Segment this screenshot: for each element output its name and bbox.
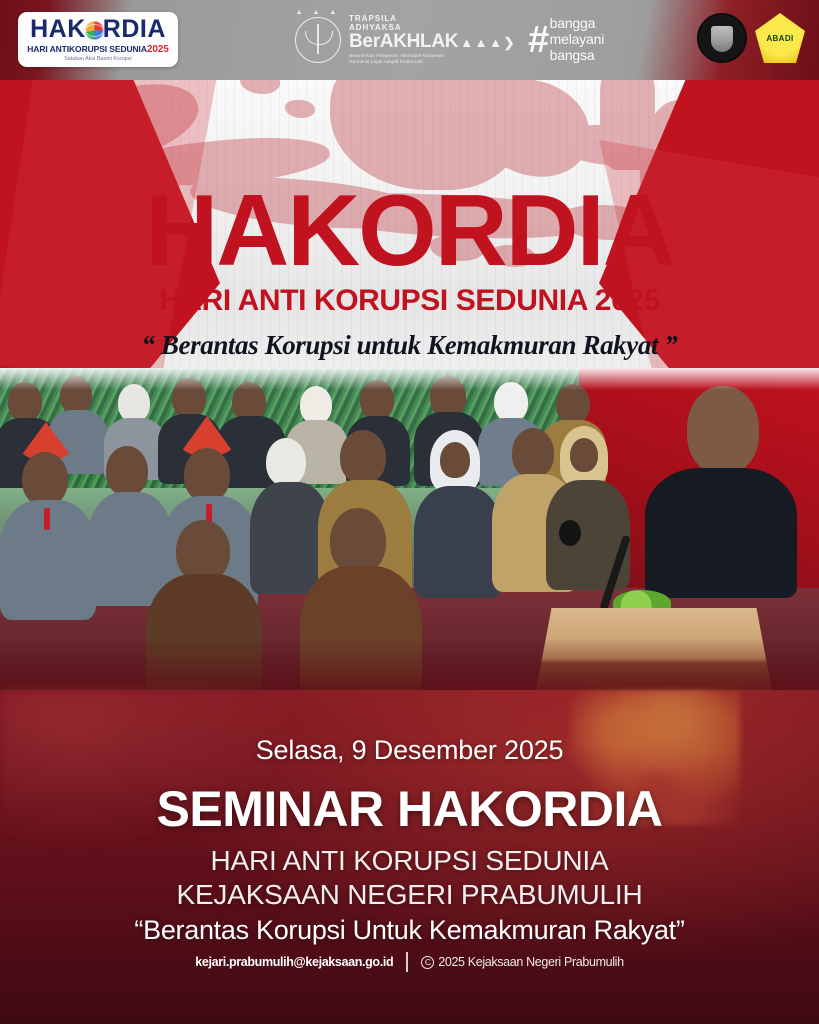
globe-icon bbox=[85, 21, 104, 40]
event-line-4: “Berantas Korupsi Untuk Kemakmuran Rakya… bbox=[0, 915, 819, 946]
event-line-3: KEJAKSAAN NEGERI PRABUMULIH bbox=[0, 878, 819, 912]
footer-bar: kejari.prabumulih@kejaksaan.go.id C 2025… bbox=[0, 952, 819, 972]
event-details-section: Selasa, 9 Desember 2025 SEMINAR HAKORDIA… bbox=[0, 690, 819, 1024]
bangga-line-3: bangsa bbox=[550, 48, 604, 64]
copyright-text: 2025 Kejaksaan Negeri Prabumulih bbox=[438, 955, 623, 969]
hakordia-badge-wordmark: HAKRDIA bbox=[30, 17, 166, 42]
seminar-photograph bbox=[0, 368, 819, 728]
microphone-head-icon bbox=[559, 520, 581, 546]
arrow-icons: ▲ ▲ ▲ ❯ bbox=[460, 36, 513, 49]
footer-divider bbox=[406, 952, 408, 972]
bangga-melayani-bangsa-lockup: # bangga melayani bangsa bbox=[528, 16, 605, 63]
photo-top-fade bbox=[0, 368, 819, 390]
poster-canvas: HAKORDIA HARI ANTI KORUPSI SEDUNIA 2025 … bbox=[0, 0, 819, 1024]
hero-title: HAKORDIA bbox=[0, 184, 819, 280]
abadi-label: ABADI bbox=[755, 34, 805, 43]
trapsila-adhyaksa-text: TRAPSILAADHYAKSA bbox=[349, 15, 514, 32]
hakordia-subtitle-text: HARI ANTIKORUPSI SEDUNIA bbox=[27, 44, 147, 54]
header-bar: HAKRDIA HARI ANTIKORUPSI SEDUNIA2025 Sat… bbox=[0, 0, 819, 80]
berakhlak-fine-print: Berorientasi Pelayanan Akuntabel Kompete… bbox=[349, 53, 514, 64]
event-title: SEMINAR HAKORDIA bbox=[0, 784, 819, 834]
contact-email[interactable]: kejari.prabumulih@kejaksaan.go.id bbox=[195, 955, 393, 969]
hakordia-year: 2025 bbox=[147, 44, 169, 55]
hakordia-word-right: RDIA bbox=[103, 15, 166, 43]
copyright-icon: C bbox=[421, 956, 434, 969]
copyright-notice: C 2025 Kejaksaan Negeri Prabumulih bbox=[421, 955, 623, 969]
berakhlak-text: BerAKHLAK bbox=[349, 32, 458, 51]
hero-block: HAKORDIA HARI ANTI KORUPSI SEDUNIA 2025 … bbox=[0, 184, 819, 361]
hash-mark-icon: # bbox=[528, 25, 545, 55]
bangga-words: bangga melayani bangsa bbox=[550, 16, 604, 63]
berakhlak-lockup: TRAPSILAADHYAKSA BerAKHLAK ▲ ▲ ▲ ❯ Beror… bbox=[349, 15, 514, 64]
dark-shield-badge-icon bbox=[697, 13, 747, 63]
seal-stars-icon: ▲ ▲ ▲ bbox=[296, 9, 341, 16]
hero-subtitle: HARI ANTI KORUPSI SEDUNIA 2025 bbox=[0, 284, 819, 318]
event-line-2: HARI ANTI KORUPSI SEDUNIA bbox=[0, 844, 819, 878]
hakordia-badge-tagline: Satukan Aksi Basmi Korupsi bbox=[64, 56, 131, 62]
hero-quote: “ Berantas Korupsi untuk Kemakmuran Raky… bbox=[0, 330, 819, 361]
berakhlak-wordmark: BerAKHLAK ▲ ▲ ▲ ❯ bbox=[349, 32, 514, 51]
hakordia-word-left: HAK bbox=[30, 15, 86, 43]
bangga-line-2: melayani bbox=[550, 32, 604, 48]
right-logo-group: ABADI bbox=[697, 13, 805, 63]
kejaksaan-seal-icon: ▲ ▲ ▲ bbox=[295, 17, 341, 63]
hakordia-badge-subtitle: HARI ANTIKORUPSI SEDUNIA2025 bbox=[27, 44, 168, 55]
center-logo-group: ▲ ▲ ▲ TRAPSILAADHYAKSA BerAKHLAK ▲ ▲ ▲ ❯… bbox=[295, 10, 604, 70]
event-date: Selasa, 9 Desember 2025 bbox=[0, 735, 819, 766]
bangga-line-1: bangga bbox=[550, 16, 604, 32]
abadi-gold-badge-icon: ABADI bbox=[755, 13, 805, 63]
hakordia-badge: HAKRDIA HARI ANTIKORUPSI SEDUNIA2025 Sat… bbox=[18, 12, 178, 67]
